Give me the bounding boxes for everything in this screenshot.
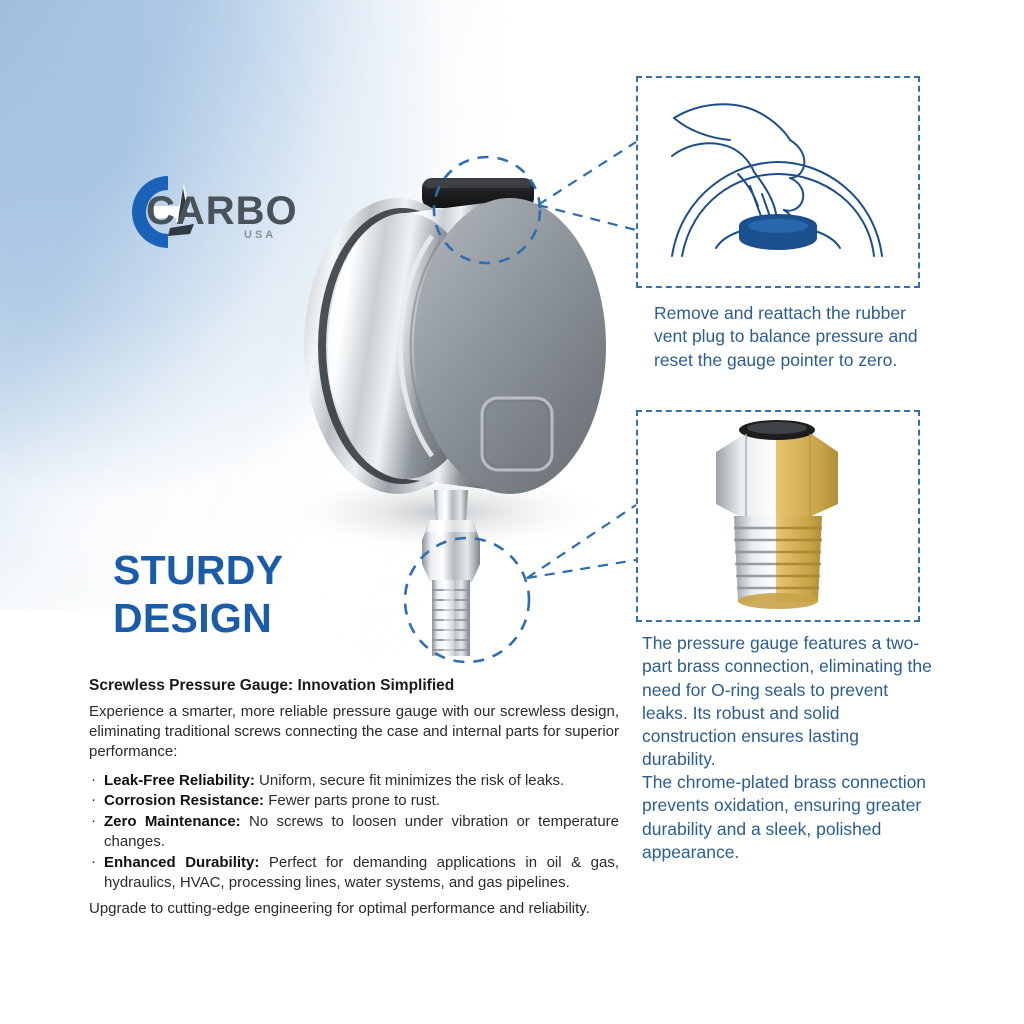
feature-term: Leak-Free Reliability: (104, 772, 255, 789)
copy-intro: Experience a smarter, more reliable pres… (89, 702, 619, 761)
feature-text: Uniform, secure fit minimizes the risk o… (255, 772, 564, 789)
callout-box-vent-plug (636, 76, 920, 288)
bullet-dot: · (91, 852, 96, 872)
feature-text: Fewer parts prone to rust. (264, 792, 440, 809)
caption-text: The pressure gauge features a two-part b… (642, 632, 937, 772)
list-item: · Zero Maintenance: No screws to loosen … (89, 812, 619, 852)
copy-subtitle: Screwless Pressure Gauge: Innovation Sim… (89, 676, 619, 696)
list-item: · Leak-Free Reliability: Uniform, secure… (89, 771, 619, 791)
bullet-dot: · (91, 790, 96, 810)
callout-caption-vent-plug: Remove and reattach the rubber vent plug… (654, 302, 939, 372)
headline-line-2: DESIGN (113, 594, 443, 642)
caption-text: Remove and reattach the rubber vent plug… (654, 302, 939, 372)
copy-outro: Upgrade to cutting-edge engineering for … (89, 899, 619, 919)
feature-term: Zero Maintenance: (104, 813, 241, 830)
callout-caption-chrome-plating: The chrome-plated brass connection preve… (642, 771, 937, 864)
hand-removing-vent-plug-illustration (638, 78, 918, 286)
callout-caption-brass-connection: The pressure gauge features a two-part b… (642, 632, 937, 772)
callout-box-brass-connection (636, 410, 920, 622)
left-copy-block: Screwless Pressure Gauge: Innovation Sim… (89, 676, 619, 919)
feature-term: Enhanced Durability: (104, 854, 259, 871)
feature-term: Corrosion Resistance: (104, 792, 264, 809)
caption-text: The chrome-plated brass connection preve… (642, 771, 937, 864)
list-item: · Enhanced Durability: Perfect for deman… (89, 853, 619, 893)
bullet-dot: · (91, 811, 96, 831)
infographic-page: CARBO USA (0, 0, 1024, 1024)
list-item: · Corrosion Resistance: Fewer parts pron… (89, 791, 619, 811)
page-title: STURDY DESIGN (113, 546, 443, 643)
bullet-dot: · (91, 770, 96, 790)
feature-list: · Leak-Free Reliability: Uniform, secure… (89, 771, 619, 893)
two-part-brass-chrome-fitting-photo (638, 412, 918, 620)
headline-line-1: STURDY (113, 547, 283, 593)
